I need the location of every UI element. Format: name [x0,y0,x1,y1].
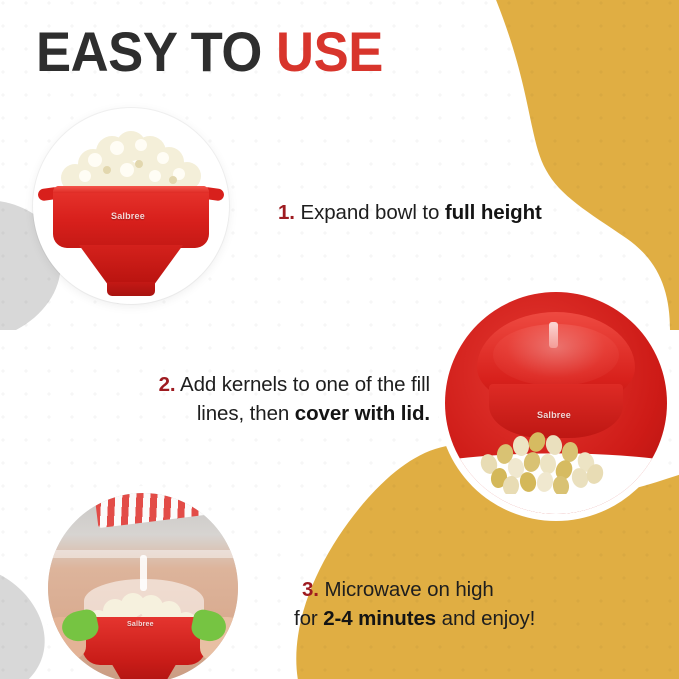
step-2-line-2: lines, then cover with lid. [62,399,430,428]
step-2-line-1: 2. Add kernels to one of the fill [62,370,430,399]
step-3-number: 3. [302,578,319,601]
lid-knob [549,322,558,348]
step-2-text: 2. Add kernels to one of the fill lines,… [62,370,430,428]
infographic-canvas: EASY TO USE [0,0,679,679]
yellow-swoosh-top-right [420,0,679,330]
brand-logo: Salbree [127,621,154,628]
step-2-line2-bold: cover with lid. [295,402,430,425]
step-3-line2-suffix: and enjoy! [442,607,536,630]
step-3-line-2: for 2-4 minutes and enjoy! [294,604,632,633]
step-3-photo: Salbree [48,493,238,679]
step-1-text-bold: full height [445,201,542,224]
step-2-line1-regular: Add kernels to one of the fill [180,373,430,396]
step-1-text: 1. Expand bowl to full height [278,198,542,227]
title-part-easy-to: EASY TO [36,20,262,83]
step-1-photo: Salbree [33,108,229,304]
step-1-number: 1. [278,201,295,224]
step-3-text: 3. Microwave on high for 2-4 minutes and… [302,575,632,633]
brand-logo: Salbree [111,211,145,221]
bowl-base [107,282,155,296]
bowl-collapsible-cone [110,661,178,679]
step-2-photo: Salbree [445,292,667,514]
step-3-line-1: 3. Microwave on high [302,575,632,604]
step-3-line1-regular: Microwave on high [325,578,494,601]
step-2-line2-regular: lines, then [197,402,289,425]
title-part-use: USE [276,20,383,83]
brand-logo: Salbree [537,410,571,420]
step-3-line2-prefix: for [294,607,318,630]
corn-kernels-illustration [475,420,613,494]
page-title: EASY TO USE [36,24,383,80]
lid-knob [140,555,147,591]
step-3-line2-bold: 2-4 minutes [323,607,436,630]
bowl-collapsible-cone [79,245,183,285]
step-2-number: 2. [159,373,176,396]
step-1-text-regular: Expand bowl to [301,201,440,224]
